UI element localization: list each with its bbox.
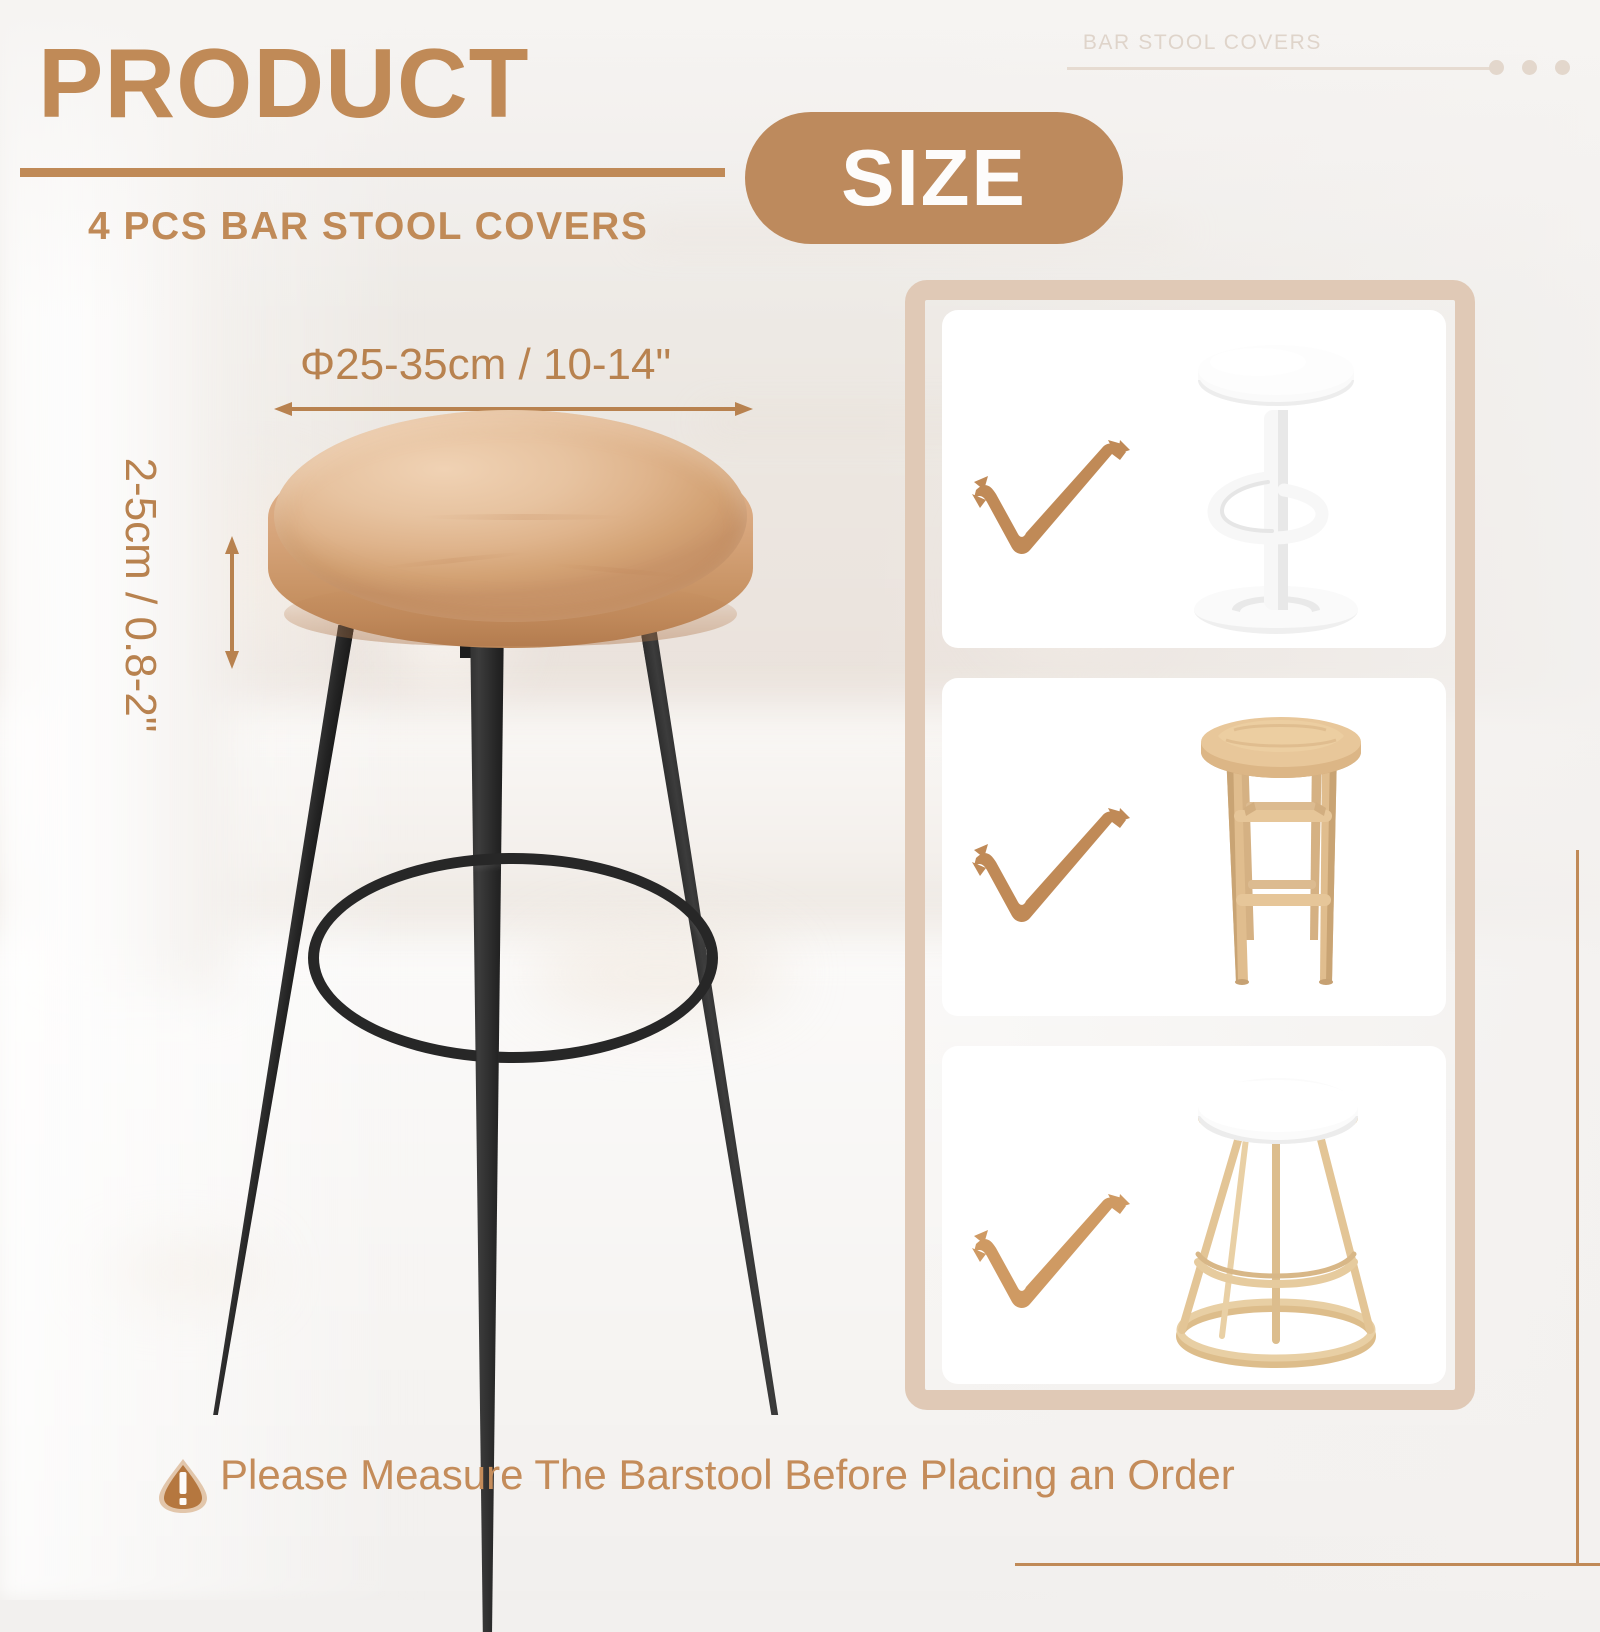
check-mark-icon bbox=[970, 438, 1132, 556]
wooden-four-leg-bar-stool-icon bbox=[1126, 682, 1426, 1012]
seat-crease-1 bbox=[418, 514, 628, 520]
size-badge: SIZE bbox=[745, 112, 1123, 244]
height-dimension-label: 2-5cm / 0.8-2" bbox=[115, 385, 165, 805]
measure-note: Please Measure The Barstool Before Placi… bbox=[220, 1451, 1235, 1499]
decorative-horizontal-line bbox=[1015, 1563, 1600, 1566]
size-badge-label: SIZE bbox=[841, 132, 1027, 224]
compatibility-card-3 bbox=[942, 1046, 1446, 1384]
stool-seat-cover bbox=[268, 410, 753, 650]
dot-icon bbox=[1555, 60, 1570, 75]
check-mark-icon bbox=[970, 806, 1132, 924]
diameter-dimension-label: Φ25-35cm / 10-14" bbox=[300, 340, 671, 390]
white-pedestal-swivel-stool-icon bbox=[1126, 314, 1426, 644]
product-stool-illustration bbox=[190, 410, 830, 1420]
page-subtitle: 4 PCS BAR STOOL COVERS bbox=[88, 205, 648, 249]
watermark-label: BAR STOOL COVERS bbox=[1083, 31, 1322, 55]
decorative-dots bbox=[1489, 60, 1570, 75]
stool-leg-left bbox=[195, 625, 354, 1415]
check-mark-icon bbox=[970, 1192, 1132, 1310]
compatibility-card-2 bbox=[942, 678, 1446, 1016]
warning-teardrop-icon bbox=[155, 1455, 211, 1515]
decorative-vertical-line bbox=[1576, 850, 1579, 1566]
stool-footrest-ring bbox=[308, 853, 718, 1063]
gold-wire-frame-stool-icon bbox=[1126, 1050, 1426, 1380]
dot-icon bbox=[1489, 60, 1504, 75]
dot-icon bbox=[1522, 60, 1537, 75]
page-title: PRODUCT bbox=[38, 34, 530, 132]
compatibility-card-1 bbox=[942, 310, 1446, 648]
title-divider bbox=[20, 168, 725, 177]
watermark-divider bbox=[1067, 67, 1495, 70]
